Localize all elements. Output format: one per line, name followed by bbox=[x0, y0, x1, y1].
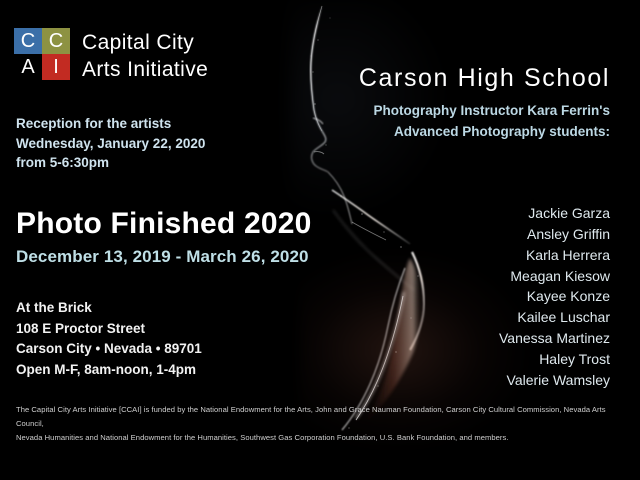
logo-cell-a: A bbox=[14, 54, 42, 80]
reception-date: Wednesday, January 22, 2020 bbox=[16, 134, 205, 154]
poster-canvas: C C A I Capital City Arts Initiative Rec… bbox=[0, 0, 640, 480]
venue-name: At the Brick bbox=[16, 298, 202, 319]
ccai-logo-mark: C C A I bbox=[14, 28, 70, 80]
school-program-info: Photography Instructor Kara Ferrin's Adv… bbox=[373, 101, 610, 142]
student-name: Haley Trost bbox=[499, 349, 610, 370]
organization-name-line1: Capital City bbox=[82, 30, 208, 57]
organization-name-line2: Arts Initiative bbox=[82, 57, 208, 84]
venue-city-state-zip: Carson City • Nevada • 89701 bbox=[16, 339, 202, 360]
funding-statement: The Capital City Arts Initiative [CCAI] … bbox=[16, 403, 626, 445]
student-list: Jackie Garza Ansley Griffin Karla Herrer… bbox=[499, 203, 610, 391]
student-name: Kayee Konze bbox=[499, 286, 610, 307]
student-name: Valerie Wamsley bbox=[499, 370, 610, 391]
student-name: Karla Herrera bbox=[499, 245, 610, 266]
reception-time: from 5-6:30pm bbox=[16, 153, 205, 173]
student-name: Vanessa Martinez bbox=[499, 328, 610, 349]
reception-details: Reception for the artists Wednesday, Jan… bbox=[16, 114, 205, 173]
venue-street: 108 E Proctor Street bbox=[16, 319, 202, 340]
venue-hours: Open M-F, 8am-noon, 1-4pm bbox=[16, 360, 202, 381]
exhibition-date-range: December 13, 2019 - March 26, 2020 bbox=[16, 248, 309, 265]
reception-heading: Reception for the artists bbox=[16, 114, 205, 134]
exhibition-title: Photo Finished 2020 bbox=[16, 209, 312, 239]
logo-cell-c1: C bbox=[14, 28, 42, 54]
sponsor-logo-strip: Carson City CULTURAL COMMISSION NAUMAN F… bbox=[0, 446, 640, 472]
program-line: Advanced Photography students: bbox=[373, 122, 610, 143]
logo-cell-i: I bbox=[42, 54, 70, 80]
school-name: Carson High School bbox=[359, 66, 610, 91]
funding-line-1: The Capital City Arts Initiative [CCAI] … bbox=[16, 403, 626, 431]
logo-cell-c2: C bbox=[42, 28, 70, 54]
funding-line-2: Nevada Humanities and National Endowment… bbox=[16, 431, 626, 445]
organization-name: Capital City Arts Initiative bbox=[82, 30, 208, 84]
venue-details: At the Brick 108 E Proctor Street Carson… bbox=[16, 298, 202, 380]
student-name: Jackie Garza bbox=[499, 203, 610, 224]
student-name: Kailee Luschar bbox=[499, 307, 610, 328]
instructor-line: Photography Instructor Kara Ferrin's bbox=[373, 101, 610, 122]
student-name: Meagan Kiesow bbox=[499, 266, 610, 287]
student-name: Ansley Griffin bbox=[499, 224, 610, 245]
